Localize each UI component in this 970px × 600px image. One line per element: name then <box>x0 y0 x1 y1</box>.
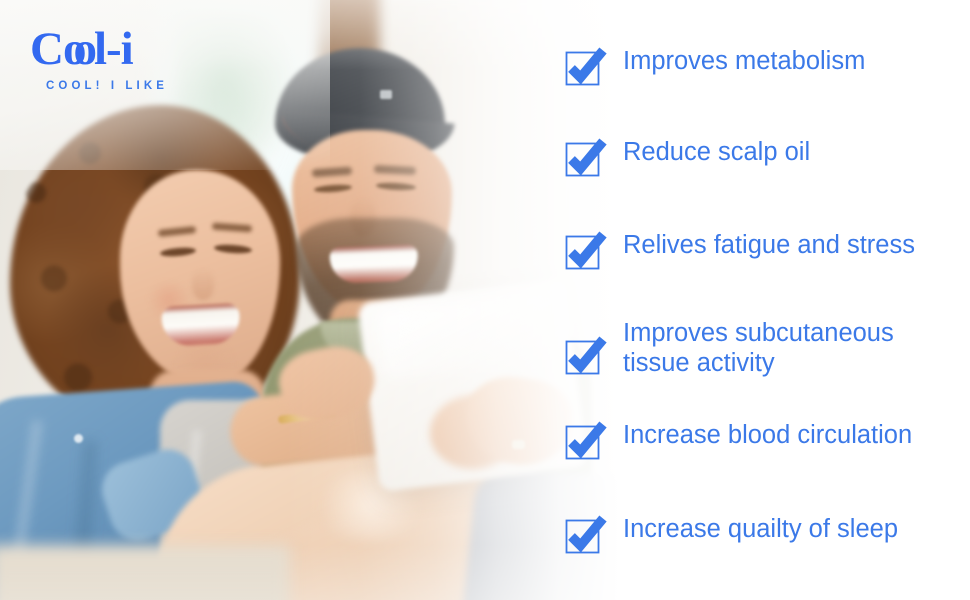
list-item: Reduce scalp oil <box>566 141 810 176</box>
logo-overlapping-oo: oo <box>63 26 84 73</box>
list-item: Improves metabolism <box>566 50 865 85</box>
logo-letter-c: C <box>30 23 63 75</box>
list-item-label: Reduce scalp oil <box>623 138 810 168</box>
logo-wordmark: Cool-i <box>30 26 168 73</box>
list-item: Increase quailty of sleep <box>566 518 898 553</box>
checkbox-checked-icon <box>566 52 599 85</box>
list-item: Relives fatigue and stress <box>566 234 915 269</box>
checkbox-checked-icon <box>566 143 599 176</box>
logo-tagline: COOL! I LIKE <box>30 80 168 92</box>
benefits-list: Improves metabolism Reduce scalp oil Rel… <box>560 0 970 600</box>
list-item-label: Improves metabolism <box>623 47 865 77</box>
list-item-label: Increase blood circulation <box>623 421 912 451</box>
list-item: Improves subcutaneous tissue activity <box>566 322 894 378</box>
list-item-label: Relives fatigue and stress <box>623 231 915 261</box>
checkbox-checked-icon <box>566 520 599 553</box>
product-benefits-banner: Cool-i COOL! I LIKE Improves metabolism … <box>0 0 970 600</box>
list-item-label: Improves subcutaneous tissue activity <box>623 319 894 378</box>
brand-logo[interactable]: Cool-i COOL! I LIKE <box>30 26 168 92</box>
list-item: Increase blood circulation <box>566 424 912 459</box>
checkbox-checked-icon <box>566 426 599 459</box>
logo-letters-li: l-i <box>94 23 133 75</box>
checkbox-checked-icon <box>566 236 599 269</box>
list-item-label: Increase quailty of sleep <box>623 515 898 545</box>
checkbox-checked-icon <box>566 341 599 374</box>
